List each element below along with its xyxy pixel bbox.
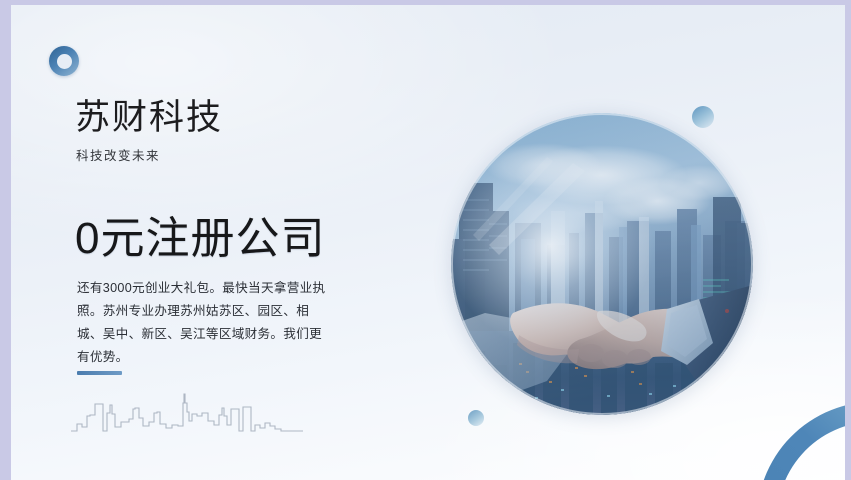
slide-canvas: 苏财科技 科技改变未来 0元注册公司 还有3000元创业大礼包。最快当天拿营业执…: [11, 5, 845, 480]
corner-arc-svg: [755, 400, 845, 480]
city-skyline-icon: [71, 391, 303, 433]
quarter-ring-arc-icon: [755, 400, 845, 480]
decorative-dot-icon: [468, 410, 484, 426]
city-skyline-svg: [71, 391, 303, 433]
body-copy: 还有3000元创业大礼包。最快当天拿营业执照。苏州专业办理苏州姑苏区、园区、相城…: [77, 277, 333, 369]
brand-tagline: 科技改变未来: [76, 145, 160, 164]
accent-bar: [77, 371, 122, 375]
slide-frame: 苏财科技 科技改变未来 0元注册公司 还有3000元创业大礼包。最快当天拿营业执…: [0, 0, 851, 480]
decorative-dot-icon: [692, 106, 714, 128]
hero-photo-svg: [451, 113, 753, 415]
headline: 0元注册公司: [75, 213, 325, 265]
handshake-cityscape-photo: [451, 113, 753, 415]
brand-title: 苏财科技: [75, 97, 223, 139]
ring-logo-icon: [49, 46, 79, 76]
